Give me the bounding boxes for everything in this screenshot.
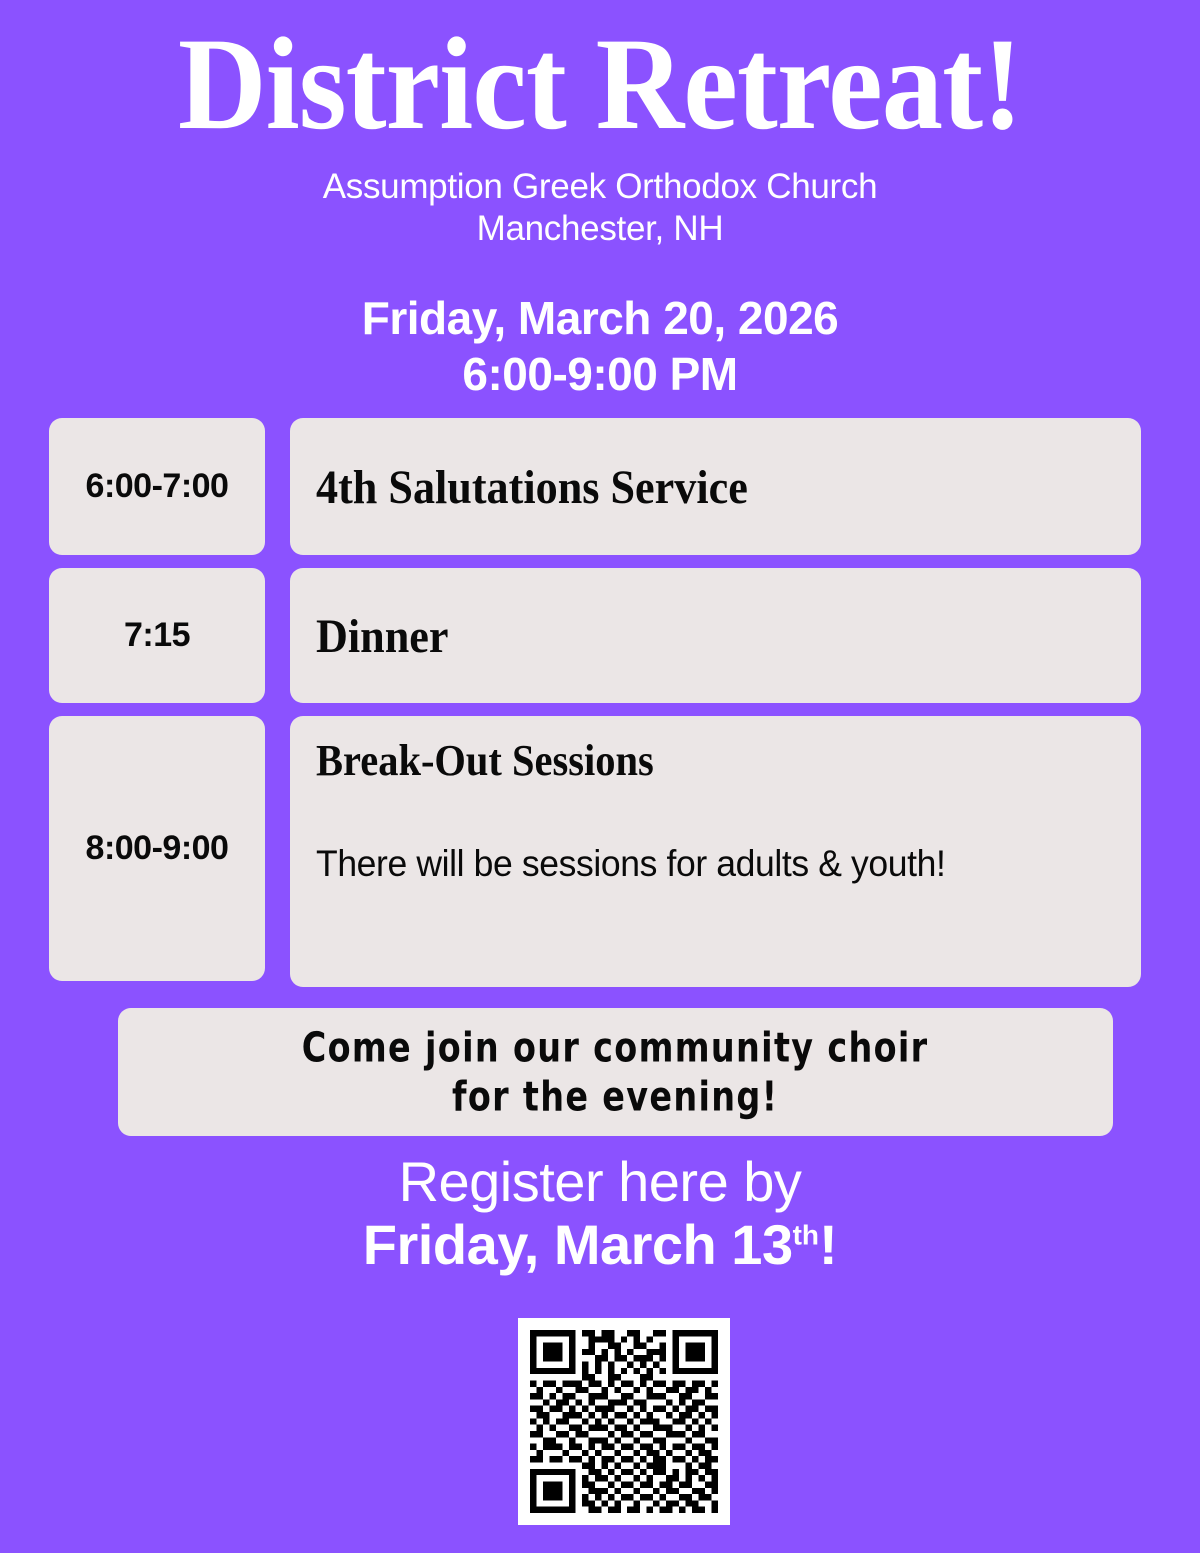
venue-city: Manchester, NH: [0, 208, 1200, 250]
event-datetime: Friday, March 20, 2026 6:00-9:00 PM: [0, 290, 1200, 402]
page-title: District Retreat!: [42, 18, 1158, 150]
table-row: 8:00-9:00 Break-Out Sessions There will …: [49, 716, 1141, 987]
schedule-event-title-3: Break-Out Sessions: [316, 738, 1051, 784]
qr-code-icon[interactable]: [518, 1318, 730, 1525]
event-date: Friday, March 20, 2026: [0, 290, 1200, 346]
schedule-event-2: Dinner: [290, 568, 1141, 703]
venue-block: Assumption Greek Orthodox Church Manches…: [0, 166, 1200, 250]
register-block: Register here by Friday, March 13th!: [0, 1152, 1200, 1276]
choir-banner-line1: Come join our community choir: [302, 1022, 929, 1072]
choir-banner-line2: for the evening!: [302, 1072, 929, 1122]
schedule-table: 6:00-7:00 4th Salutations Service 7:15 D…: [49, 418, 1141, 1000]
schedule-event-note-3: There will be sessions for adults & yout…: [316, 842, 1083, 886]
schedule-event-title-2: Dinner: [316, 612, 448, 662]
table-row: 6:00-7:00 4th Salutations Service: [49, 418, 1141, 555]
schedule-time-1: 6:00-7:00: [49, 418, 265, 555]
choir-banner: Come join our community choir for the ev…: [118, 1008, 1113, 1136]
schedule-event-title-1: 4th Salutations Service: [316, 463, 748, 513]
table-row: 7:15 Dinner: [49, 568, 1141, 703]
register-deadline-suffix: !: [819, 1213, 837, 1276]
venue-name: Assumption Greek Orthodox Church: [0, 166, 1200, 208]
flyer-canvas: District Retreat! Assumption Greek Ortho…: [0, 0, 1200, 1553]
register-prompt: Register here by: [0, 1152, 1200, 1212]
register-deadline-date: Friday, March 13: [363, 1213, 793, 1276]
schedule-time-2: 7:15: [49, 568, 265, 703]
register-deadline: Friday, March 13th!: [0, 1214, 1200, 1276]
schedule-event-1: 4th Salutations Service: [290, 418, 1141, 555]
register-deadline-ordinal: th: [793, 1220, 819, 1251]
choir-banner-text: Come join our community choir for the ev…: [302, 1022, 929, 1121]
schedule-event-3: Break-Out Sessions There will be session…: [290, 716, 1141, 987]
qr-code-canvas[interactable]: [530, 1330, 718, 1513]
event-time: 6:00-9:00 PM: [0, 346, 1200, 402]
schedule-time-3: 8:00-9:00: [49, 716, 265, 981]
